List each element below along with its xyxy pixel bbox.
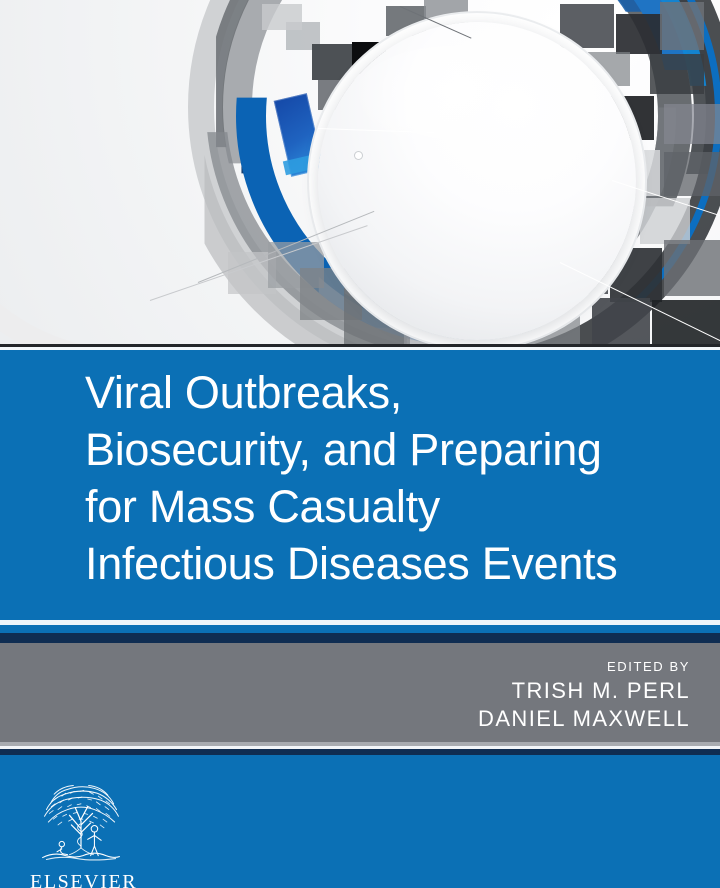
title-line-2: Biosecurity, and Preparing xyxy=(85,421,695,478)
stripe-navy-upper xyxy=(0,633,720,643)
facet-tile xyxy=(664,152,720,196)
facet-tile xyxy=(664,240,720,296)
book-title: Viral Outbreaks, Biosecurity, and Prepar… xyxy=(85,364,695,592)
facet-tile xyxy=(616,14,662,54)
editor-name-1: TRISH M. PERL xyxy=(478,677,690,705)
facet-tile xyxy=(592,298,650,345)
facet-tile xyxy=(660,2,704,50)
facet-tile xyxy=(262,4,302,30)
publisher-footer: ELSEVIER xyxy=(0,755,720,888)
sphere-node-dot xyxy=(355,152,362,159)
title-band: Viral Outbreaks, Biosecurity, and Prepar… xyxy=(0,350,720,620)
facet-tile xyxy=(560,4,614,48)
facet-tile xyxy=(610,248,662,302)
editor-credits: EDITED BY TRISH M. PERL DANIEL MAXWELL xyxy=(478,657,690,733)
cover-artwork xyxy=(0,0,720,345)
stripe-blue-upper xyxy=(0,625,720,633)
title-line-3: for Mass Casualty xyxy=(85,478,695,535)
elsevier-tree-logo xyxy=(32,775,130,871)
book-cover: Viral Outbreaks, Biosecurity, and Prepar… xyxy=(0,0,720,888)
facet-tile xyxy=(664,104,720,144)
elsevier-wordmark: ELSEVIER xyxy=(30,871,134,888)
sphere-highlight xyxy=(352,46,552,156)
title-line-4: Infectious Diseases Events xyxy=(85,535,695,592)
editor-band: EDITED BY TRISH M. PERL DANIEL MAXWELL xyxy=(0,643,720,742)
facet-tile xyxy=(650,54,704,94)
title-line-1: Viral Outbreaks, xyxy=(85,364,695,421)
edited-by-label: EDITED BY xyxy=(478,657,690,677)
facet-tile xyxy=(312,44,354,80)
artwork-stage xyxy=(0,0,720,345)
facet-tile xyxy=(640,198,690,244)
editor-name-2: DANIEL MAXWELL xyxy=(478,705,690,733)
